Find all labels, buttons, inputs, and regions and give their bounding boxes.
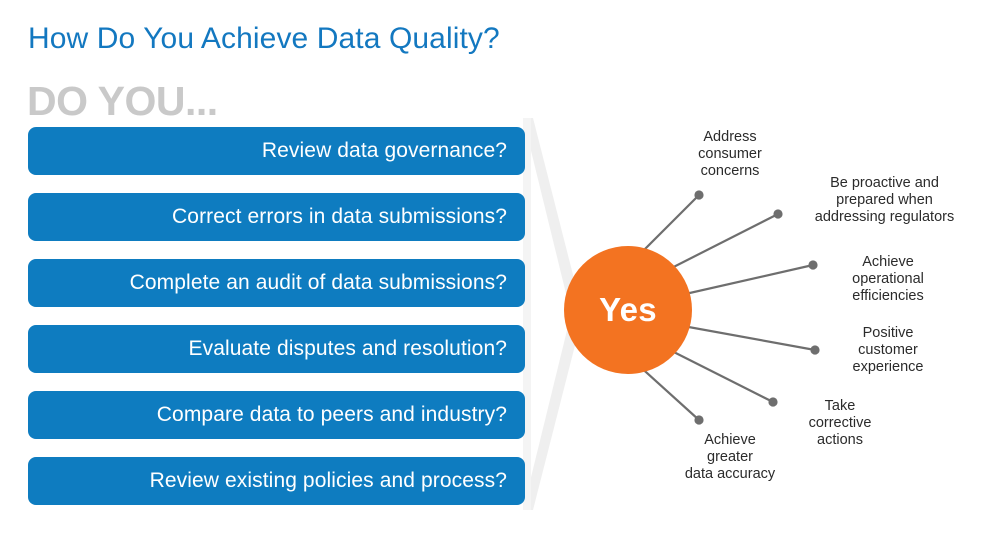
question-bar[interactable]: Compare data to peers and industry? — [28, 391, 525, 439]
outcome-label-take-corrective-actions: Takecorrectiveactions — [784, 398, 896, 449]
spoke-endpoint-dot — [810, 345, 819, 354]
infographic-canvas: How Do You Achieve Data Quality? DO YOU.… — [0, 0, 994, 535]
question-bar-label: Evaluate disputes and resolution? — [188, 337, 507, 361]
question-bar[interactable]: Complete an audit of data submissions? — [28, 259, 525, 307]
outcome-label-be-proactive-with-regulators: Be proactive andprepared whenaddressing … — [777, 175, 992, 226]
question-bar[interactable]: Review existing policies and process? — [28, 457, 525, 505]
question-bar-label: Compare data to peers and industry? — [157, 403, 507, 427]
outcome-label-line: Take — [784, 398, 896, 415]
question-bar-label: Correct errors in data submissions? — [172, 205, 507, 229]
question-bar[interactable]: Evaluate disputes and resolution? — [28, 325, 525, 373]
outcome-label-achieve-operational-efficiencies: Achieveoperationalefficiencies — [828, 254, 948, 305]
spoke-endpoint-dot — [694, 415, 703, 424]
question-bar-list: Review data governance?Correct errors in… — [28, 127, 525, 523]
outcome-label-line: corrective — [784, 415, 896, 432]
outcome-label-line: Achieve — [828, 254, 948, 271]
outcome-label-line: Address — [662, 129, 798, 146]
spoke-endpoint-dot — [768, 397, 777, 406]
question-bar[interactable]: Review data governance? — [28, 127, 525, 175]
outcome-label-positive-customer-experience: Positivecustomerexperience — [828, 325, 948, 376]
spoke-endpoint-dot — [808, 260, 817, 269]
question-bar-label: Review existing policies and process? — [150, 469, 507, 493]
outcome-label-line: Positive — [828, 325, 948, 342]
outcome-label-line: addressing regulators — [777, 209, 992, 226]
question-bar-label: Complete an audit of data submissions? — [130, 271, 507, 295]
yes-hub-label: Yes — [599, 291, 657, 329]
outcome-label-line: operational — [828, 271, 948, 288]
outcome-label-line: greater — [660, 449, 800, 466]
outcome-label-achieve-greater-data-accuracy: Achievegreaterdata accuracy — [660, 432, 800, 483]
outcome-label-line: customer — [828, 342, 948, 359]
outcome-label-line: actions — [784, 432, 896, 449]
outcome-label-line: data accuracy — [660, 466, 800, 483]
outcome-label-line: efficiencies — [828, 288, 948, 305]
outcome-label-line: Achieve — [660, 432, 800, 449]
page-title: How Do You Achieve Data Quality? — [28, 22, 500, 56]
outcome-label-line: experience — [828, 359, 948, 376]
outcome-label-address-consumer-concerns: Addressconsumerconcerns — [662, 129, 798, 180]
outcome-spoke-diagram: Yes AddressconsumerconcernsBe proactive … — [540, 110, 994, 520]
spoke-endpoint-dot — [694, 190, 703, 199]
question-bar-label: Review data governance? — [262, 139, 507, 163]
do-you-kicker: DO YOU... — [27, 78, 218, 125]
outcome-label-line: Be proactive and — [777, 175, 992, 192]
outcome-label-line: consumer — [662, 146, 798, 163]
yes-hub-circle: Yes — [564, 246, 692, 374]
question-bar[interactable]: Correct errors in data submissions? — [28, 193, 525, 241]
outcome-label-line: prepared when — [777, 192, 992, 209]
